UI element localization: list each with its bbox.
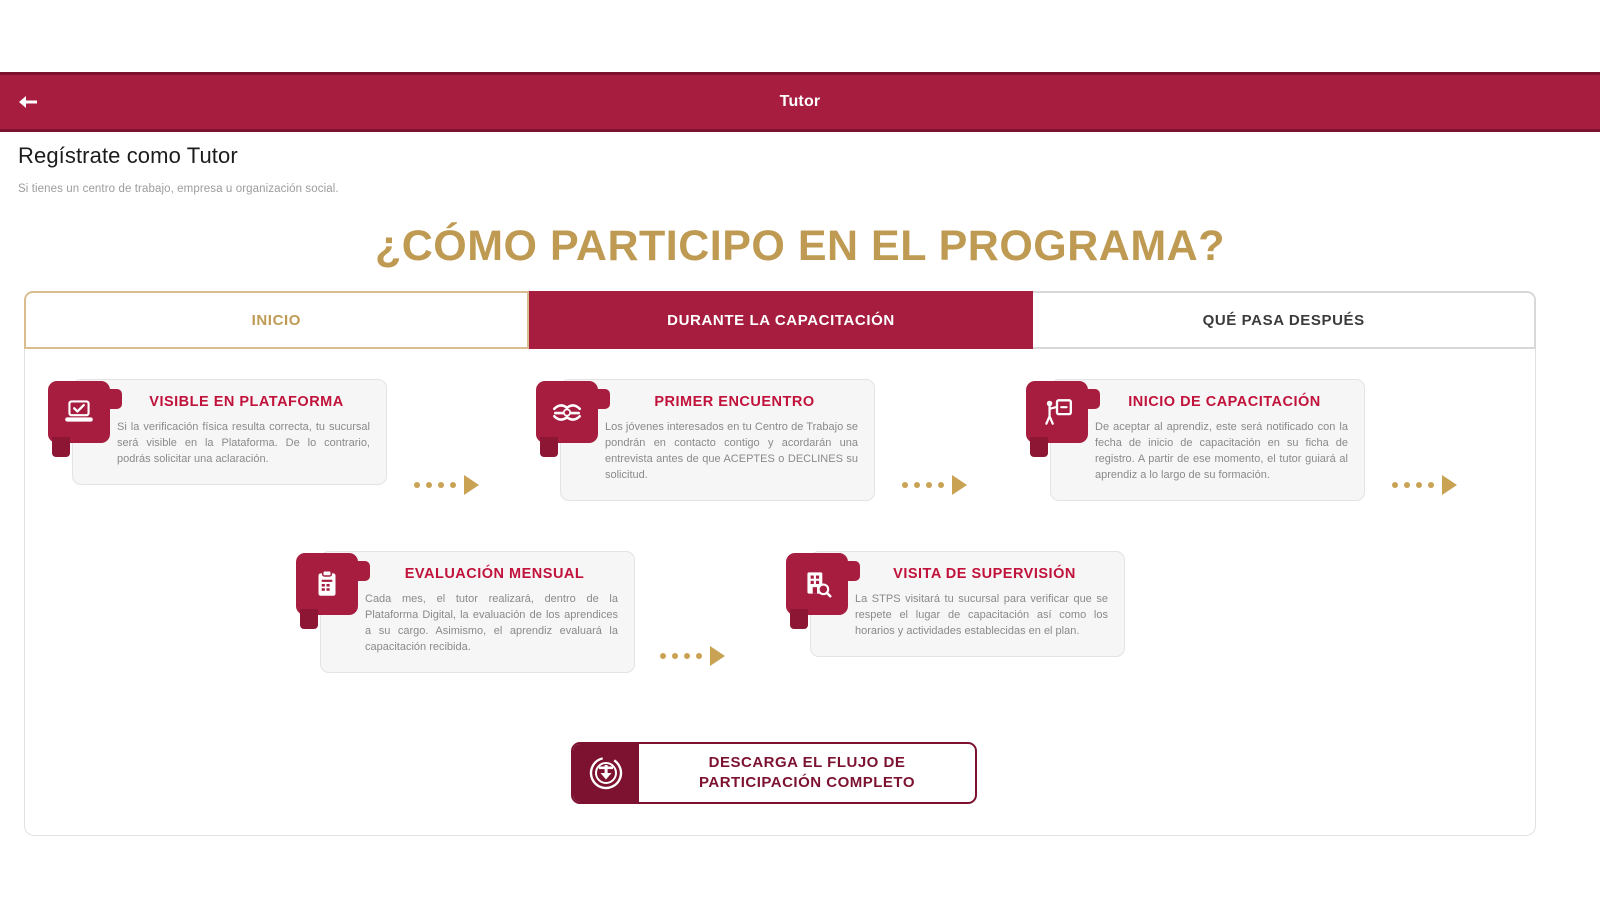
intro-block: Regístrate como Tutor Si tienes un centr… xyxy=(18,143,918,195)
card-title: VISIBLE EN PLATAFORMA xyxy=(117,394,370,410)
card-body: De aceptar al aprendiz, este será notifi… xyxy=(1095,420,1348,484)
arrow-dot xyxy=(426,482,432,488)
card-body: Cada mes, el tutor realizará, dentro de … xyxy=(365,592,618,656)
card-title: INICIO DE CAPACITACIÓN xyxy=(1095,394,1348,410)
arrow-dot xyxy=(684,653,690,659)
tab-inicio[interactable]: INICIO xyxy=(24,291,529,349)
section-heading: ¿CÓMO PARTICIPO EN EL PROGRAMA? xyxy=(0,222,1600,271)
card-title: VISITA DE SUPERVISIÓN xyxy=(855,566,1108,582)
flow-card-visible-en-plataforma[interactable]: VISIBLE EN PLATAFORMA Si la verificación… xyxy=(42,379,387,485)
arrow-dot xyxy=(660,653,666,659)
download-label-line1: DESCARGA EL FLUJO DE xyxy=(649,753,965,773)
download-button-label: DESCARGA EL FLUJO DE PARTICIPACIÓN COMPL… xyxy=(639,753,975,794)
download-circle-icon xyxy=(573,744,639,802)
card-title: EVALUACIÓN MENSUAL xyxy=(365,566,618,582)
tab-label: QUÉ PASA DESPUÉS xyxy=(1203,312,1365,329)
flow-arrow-1 xyxy=(414,475,479,495)
tab-label: INICIO xyxy=(252,312,301,329)
building-search-icon xyxy=(786,553,848,615)
card-body: Si la verificación física resulta correc… xyxy=(117,420,370,468)
arrow-head-icon xyxy=(1442,475,1457,495)
app-bar-title: Tutor xyxy=(0,93,1600,111)
arrow-dot xyxy=(438,482,444,488)
arrow-dot xyxy=(902,482,908,488)
arrow-dot xyxy=(926,482,932,488)
card-body: Los jóvenes interesados en tu Centro de … xyxy=(605,420,858,484)
tab-que-pasa-despues[interactable]: QUÉ PASA DESPUÉS xyxy=(1033,291,1536,349)
flow-card-primer-encuentro[interactable]: PRIMER ENCUENTRO Los jóvenes interesados… xyxy=(530,379,875,501)
page-title: Regístrate como Tutor xyxy=(18,143,918,169)
flow-arrow-4 xyxy=(660,646,725,666)
card-body: La STPS visitará tu sucursal para verifi… xyxy=(855,592,1108,640)
flow-card-inicio-de-capacitacion[interactable]: INICIO DE CAPACITACIÓN De aceptar al apr… xyxy=(1020,379,1365,501)
arrow-dot xyxy=(1404,482,1410,488)
laptop-check-icon xyxy=(48,381,110,443)
page-root: Tutor Regístrate como Tutor Si tienes un… xyxy=(0,0,1600,900)
download-label-line2: PARTICIPACIÓN COMPLETO xyxy=(649,773,965,793)
tab-durante-la-capacitacion[interactable]: DURANTE LA CAPACITACIÓN xyxy=(529,291,1034,349)
tab-bar: INICIO DURANTE LA CAPACITACIÓN QUÉ PASA … xyxy=(24,291,1536,349)
arrow-dot xyxy=(1428,482,1434,488)
clipboard-calendar-icon xyxy=(296,553,358,615)
handshake-icon xyxy=(536,381,598,443)
arrow-head-icon xyxy=(710,646,725,666)
arrow-dot xyxy=(938,482,944,488)
arrow-dot xyxy=(414,482,420,488)
arrow-dot xyxy=(1392,482,1398,488)
flow-arrow-2 xyxy=(902,475,967,495)
tab-label: DURANTE LA CAPACITACIÓN xyxy=(667,312,895,329)
arrow-dot xyxy=(672,653,678,659)
flow-arrow-3 xyxy=(1392,475,1457,495)
flow-card-evaluacion-mensual[interactable]: EVALUACIÓN MENSUAL Cada mes, el tutor re… xyxy=(290,551,635,673)
flow-card-visita-de-supervision[interactable]: VISITA DE SUPERVISIÓN La STPS visitará t… xyxy=(780,551,1125,657)
arrow-dot xyxy=(914,482,920,488)
page-subtitle: Si tienes un centro de trabajo, empresa … xyxy=(18,183,918,195)
arrow-head-icon xyxy=(464,475,479,495)
arrow-dot xyxy=(696,653,702,659)
download-flow-button[interactable]: DESCARGA EL FLUJO DE PARTICIPACIÓN COMPL… xyxy=(571,742,977,804)
arrow-dot xyxy=(450,482,456,488)
arrow-head-icon xyxy=(952,475,967,495)
app-bar: Tutor xyxy=(0,72,1600,132)
teacher-board-icon xyxy=(1026,381,1088,443)
card-title: PRIMER ENCUENTRO xyxy=(605,394,858,410)
arrow-dot xyxy=(1416,482,1422,488)
